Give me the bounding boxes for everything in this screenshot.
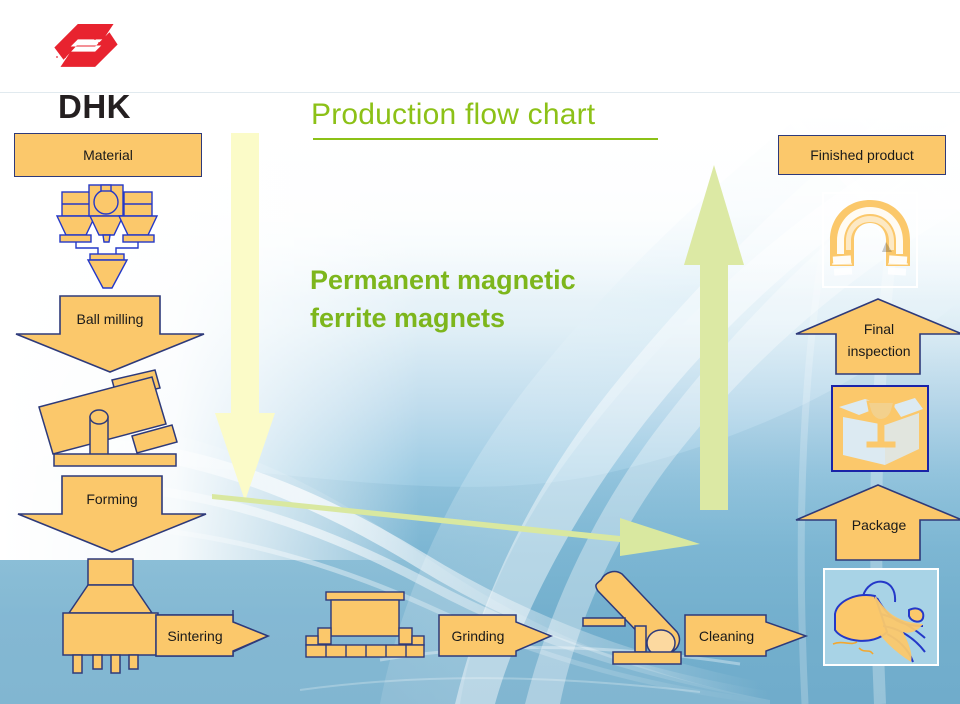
tilted-ball-mill-icon [22,362,202,470]
diagonal-flow-arrow [212,486,702,556]
page-title: Production flow chart [311,98,595,132]
node-finished-product[interactable]: Finished product [778,135,946,175]
magnet-image-frame [822,192,918,288]
fragile-box-icon [833,387,927,470]
node-final-inspection[interactable] [794,298,960,376]
dhk-logo: DHK [30,18,150,118]
headline: Permanent magnetic ferrite magnets [310,261,710,337]
headline-line-2: ferrite magnets [310,299,710,337]
forming-press-icon [55,557,170,667]
brand-name: DHK [58,88,131,126]
node-sintering[interactable] [155,610,270,662]
node-grinding[interactable] [438,610,553,662]
horseshoe-magnet-icon [824,194,916,286]
bucket-pouring-water-icon [825,570,937,664]
down-flow-arrow [214,133,276,503]
node-package[interactable] [794,484,960,562]
node-forming[interactable] [14,474,210,554]
package-image-frame [831,385,929,472]
hopper-mixer-icon [46,182,176,290]
washing-image-frame [823,568,939,666]
headline-line-1: Permanent magnetic [310,261,710,299]
slide-canvas: DHK Production flow chart Permanent magn… [0,0,960,704]
node-cleaning[interactable] [684,610,809,662]
node-material[interactable]: Material [14,133,202,177]
title-underline [313,138,658,140]
sintering-kiln-icon [302,590,432,662]
up-flow-arrow [682,165,746,510]
dhk-s-logo-icon [30,18,130,80]
